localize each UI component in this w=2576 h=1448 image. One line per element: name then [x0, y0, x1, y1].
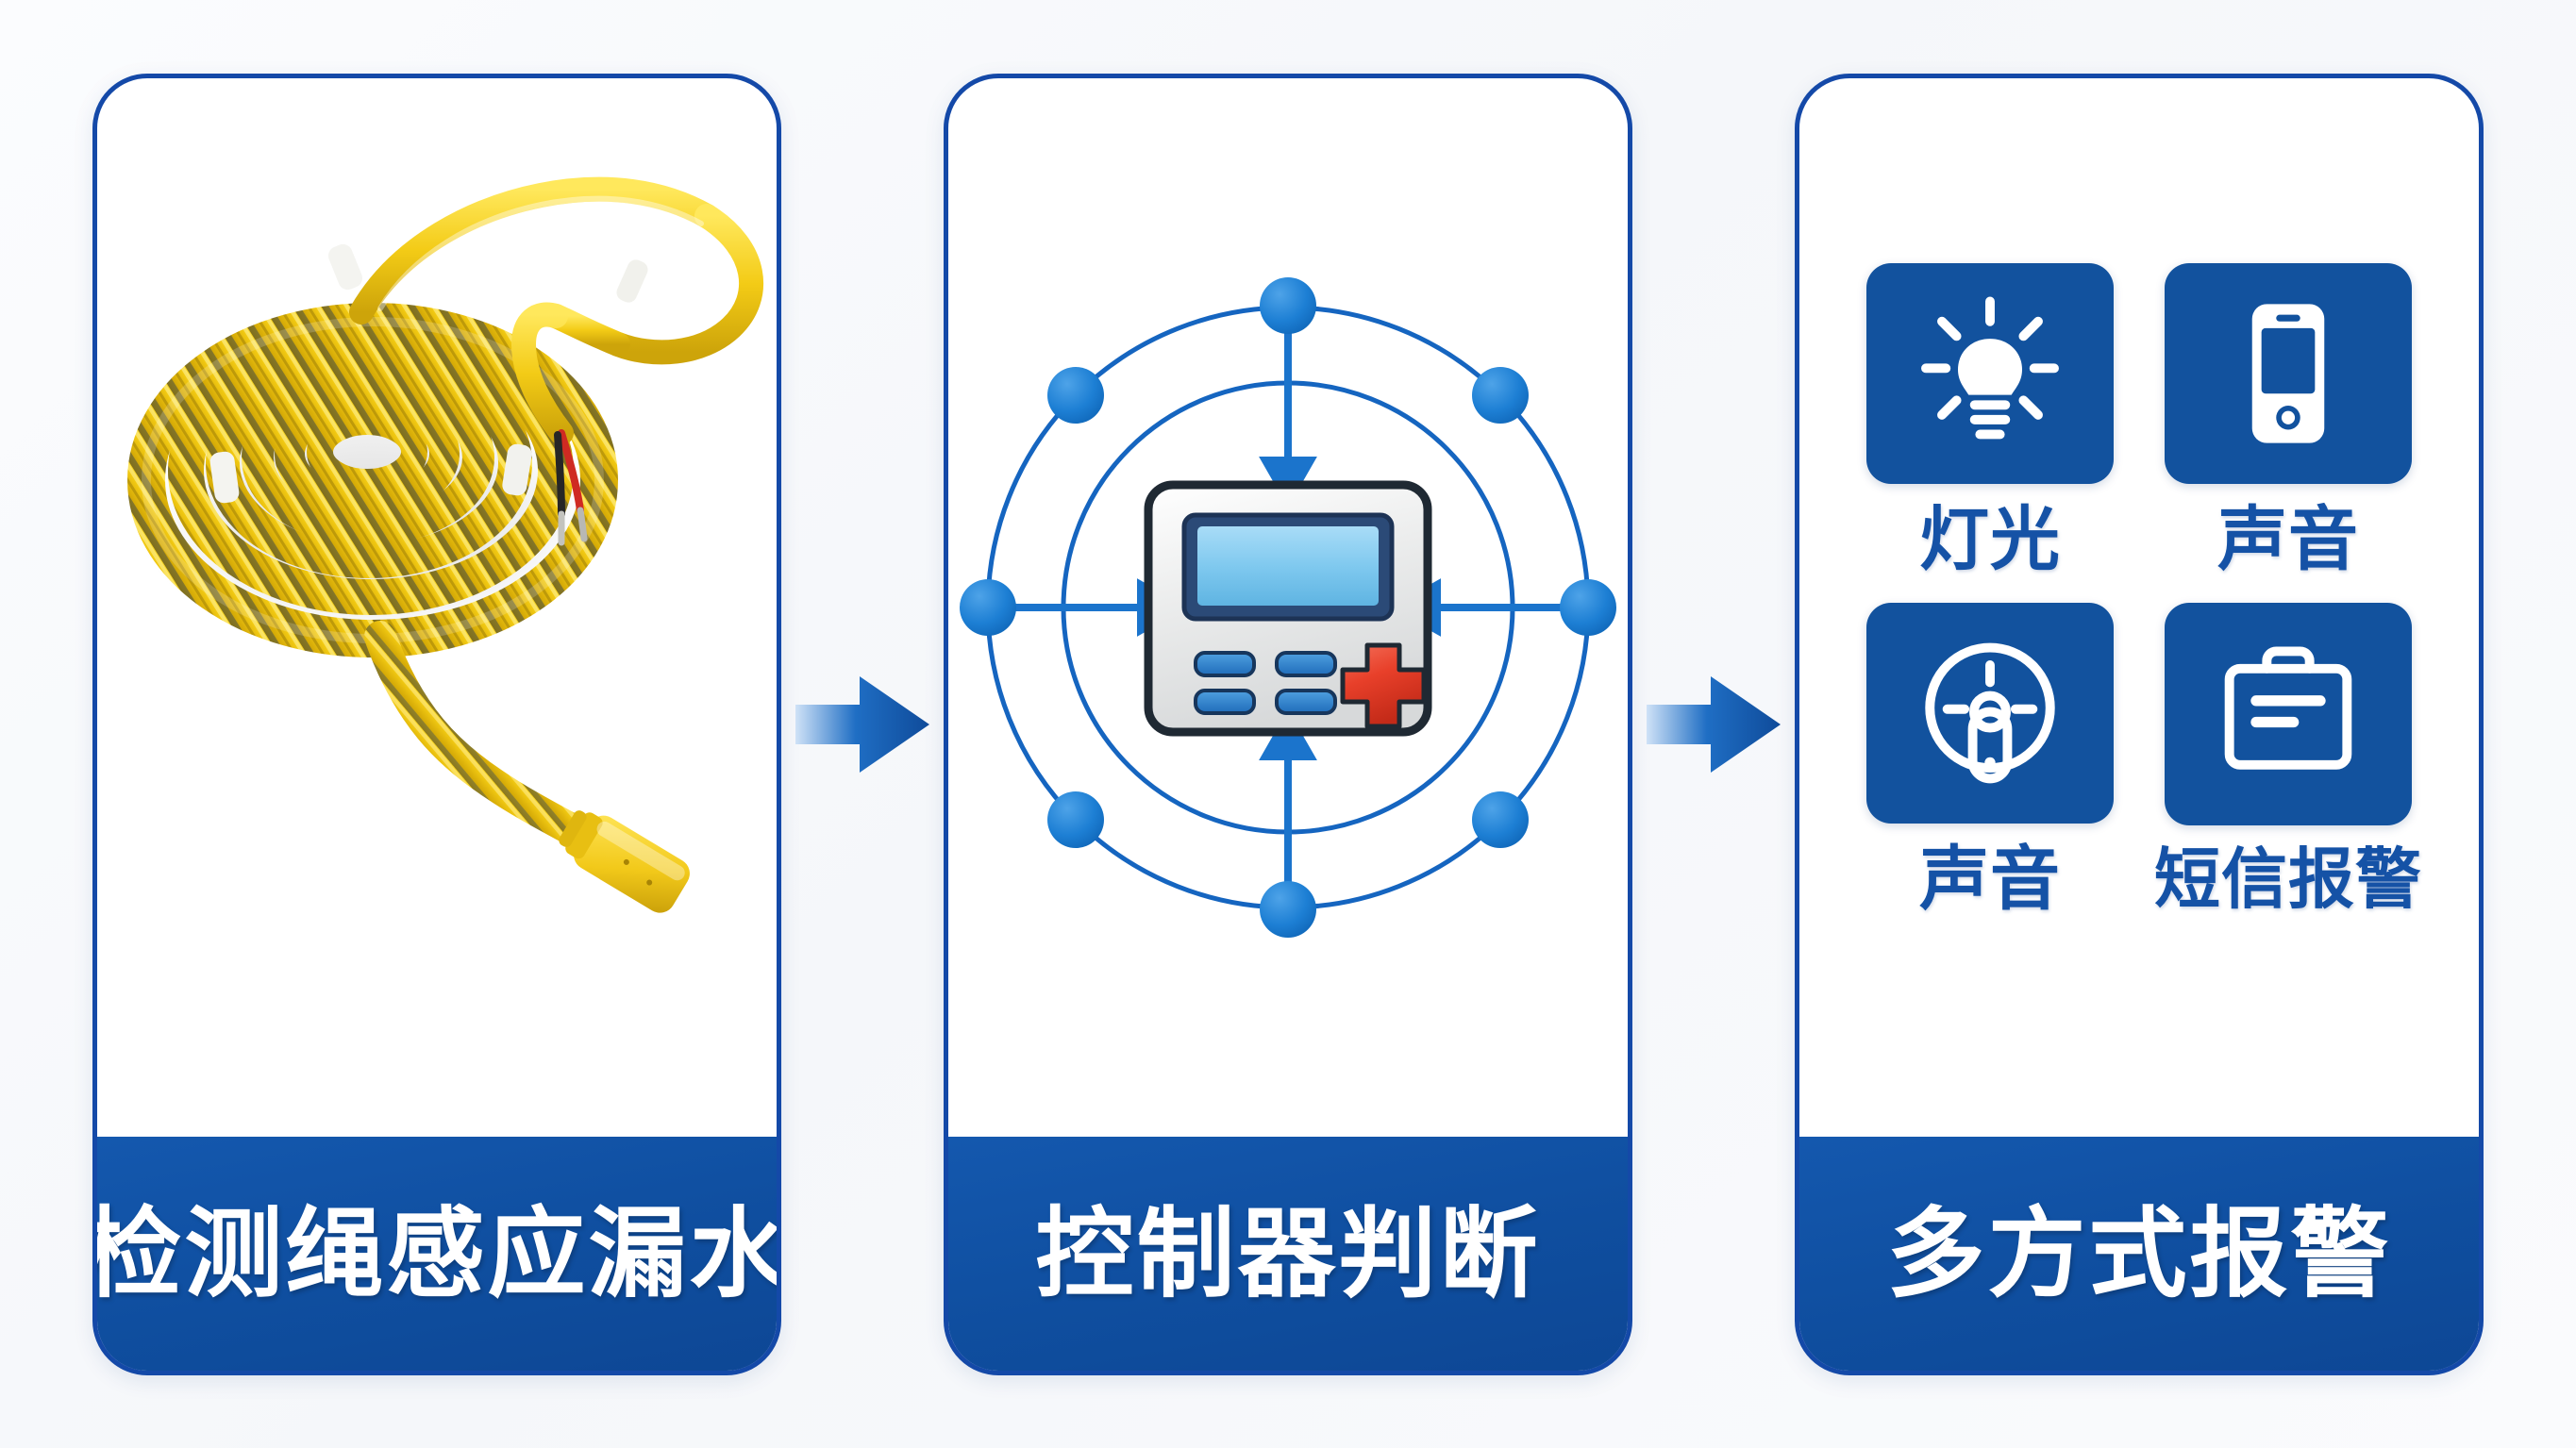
flow-step-card-1[interactable]: 检测绳感应漏水 [92, 74, 781, 1375]
button-1 [1196, 653, 1254, 675]
orbit-node-bottom-right [1472, 791, 1529, 848]
button-2 [1277, 653, 1335, 675]
orbit-node-top [1260, 277, 1316, 334]
orbit-node-top-left [1047, 367, 1104, 424]
alarm-method-light[interactable]: 灯光 [1863, 263, 2117, 574]
card-3-label: 多方式报警 [1886, 1205, 2391, 1303]
probe-end-cap [552, 800, 695, 918]
lead-cable-tie [614, 257, 651, 305]
card-3-footer: 多方式报警 [1799, 1137, 2479, 1371]
orbit-node-bottom-left [1047, 791, 1104, 848]
card-3-illustration-area: 灯光 声音 [1799, 78, 2479, 1137]
process-flow: 检测绳感应漏水 [0, 0, 2576, 1448]
orbit-node-right [1560, 579, 1616, 636]
phone-tile[interactable] [2165, 263, 2412, 484]
siren-alarm-icon [1910, 633, 2070, 793]
infographic-canvas: 检测绳感应漏水 [0, 0, 2576, 1448]
leak-detection-rope-photo [97, 78, 777, 1137]
controller-orbit-svg [948, 183, 1628, 1032]
connector-1 [781, 74, 944, 1375]
orbit-node-left [960, 579, 1016, 636]
button-3 [1196, 691, 1254, 713]
connector-2 [1632, 74, 1795, 1375]
card-1-footer: 检测绳感应漏水 [97, 1137, 777, 1371]
card-1-illustration-area [97, 78, 777, 1137]
lightbulb-icon [1910, 293, 2070, 454]
card-2-footer: 控制器判断 [948, 1137, 1628, 1371]
orbit-node-bottom [1260, 881, 1316, 938]
controller-diagram [948, 183, 1628, 1032]
button-4 [1277, 691, 1335, 713]
mobile-phone-icon [2208, 293, 2368, 454]
alarm-method-label: 灯光 [1919, 505, 2061, 574]
alarm-method-sms[interactable]: 短信报警 [2161, 603, 2416, 914]
controller-device[interactable] [1148, 485, 1428, 732]
briefcase-tile[interactable] [2165, 603, 2412, 825]
alarm-method-phone[interactable]: 声音 [2161, 263, 2416, 574]
lcd-screen [1197, 526, 1379, 606]
light-tile[interactable] [1866, 263, 2114, 484]
flow-step-card-3[interactable]: 灯光 声音 [1795, 74, 2484, 1375]
card-1-label: 检测绳感应漏水 [92, 1205, 781, 1303]
alarm-method-label: 短信报警 [2154, 846, 2422, 912]
right-arrow-icon [792, 663, 933, 786]
alarm-methods-grid: 灯光 声音 [1863, 263, 2416, 914]
card-2-label: 控制器判断 [1035, 1205, 1540, 1303]
briefcase-icon [2208, 634, 2368, 794]
siren-tile[interactable] [1866, 603, 2114, 824]
rope-tail [380, 637, 592, 841]
card-2-illustration-area [948, 78, 1628, 1137]
orbit-node-top-right [1472, 367, 1529, 424]
alarm-method-siren[interactable]: 声音 [1863, 603, 2117, 914]
right-arrow-icon [1643, 663, 1784, 786]
alarm-method-label: 声音 [2217, 505, 2359, 574]
flow-step-card-2[interactable]: 控制器判断 [944, 74, 1632, 1375]
alarm-method-label: 声音 [1919, 844, 2061, 914]
rope-illustration-svg [97, 78, 777, 1137]
